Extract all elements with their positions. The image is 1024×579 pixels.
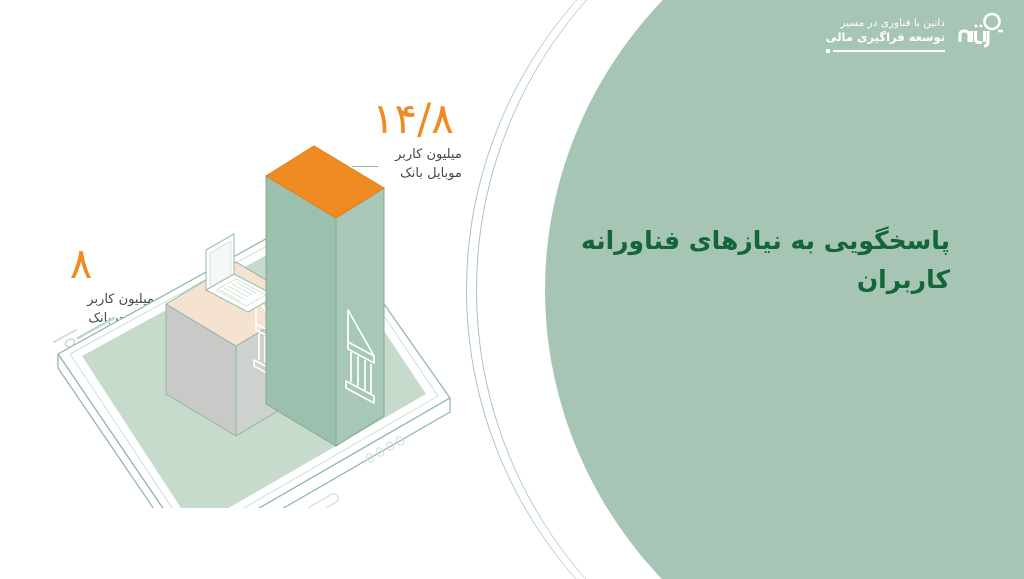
brand-tagline-line1: داتین با فناوری در مسیر (826, 16, 945, 30)
infographic-slide: داتین با فناوری در مسیر توسعه فراگیری ما… (0, 0, 1024, 579)
brand-tagline-line2: توسعه فراگیری مالی (826, 30, 945, 46)
bar-mobile-bank (266, 146, 384, 446)
isometric-bar-chart-illustration (18, 128, 488, 512)
brand-divider-rule (833, 50, 945, 53)
datin-logo (954, 12, 1008, 54)
brand-block: داتین با فناوری در مسیر توسعه فراگیری ما… (826, 12, 1008, 54)
brand-tagline: داتین با فناوری در مسیر توسعه فراگیری ما… (826, 12, 945, 52)
page-title: پاسخگویی به نیازهای فناورانه کاربران (570, 222, 950, 300)
